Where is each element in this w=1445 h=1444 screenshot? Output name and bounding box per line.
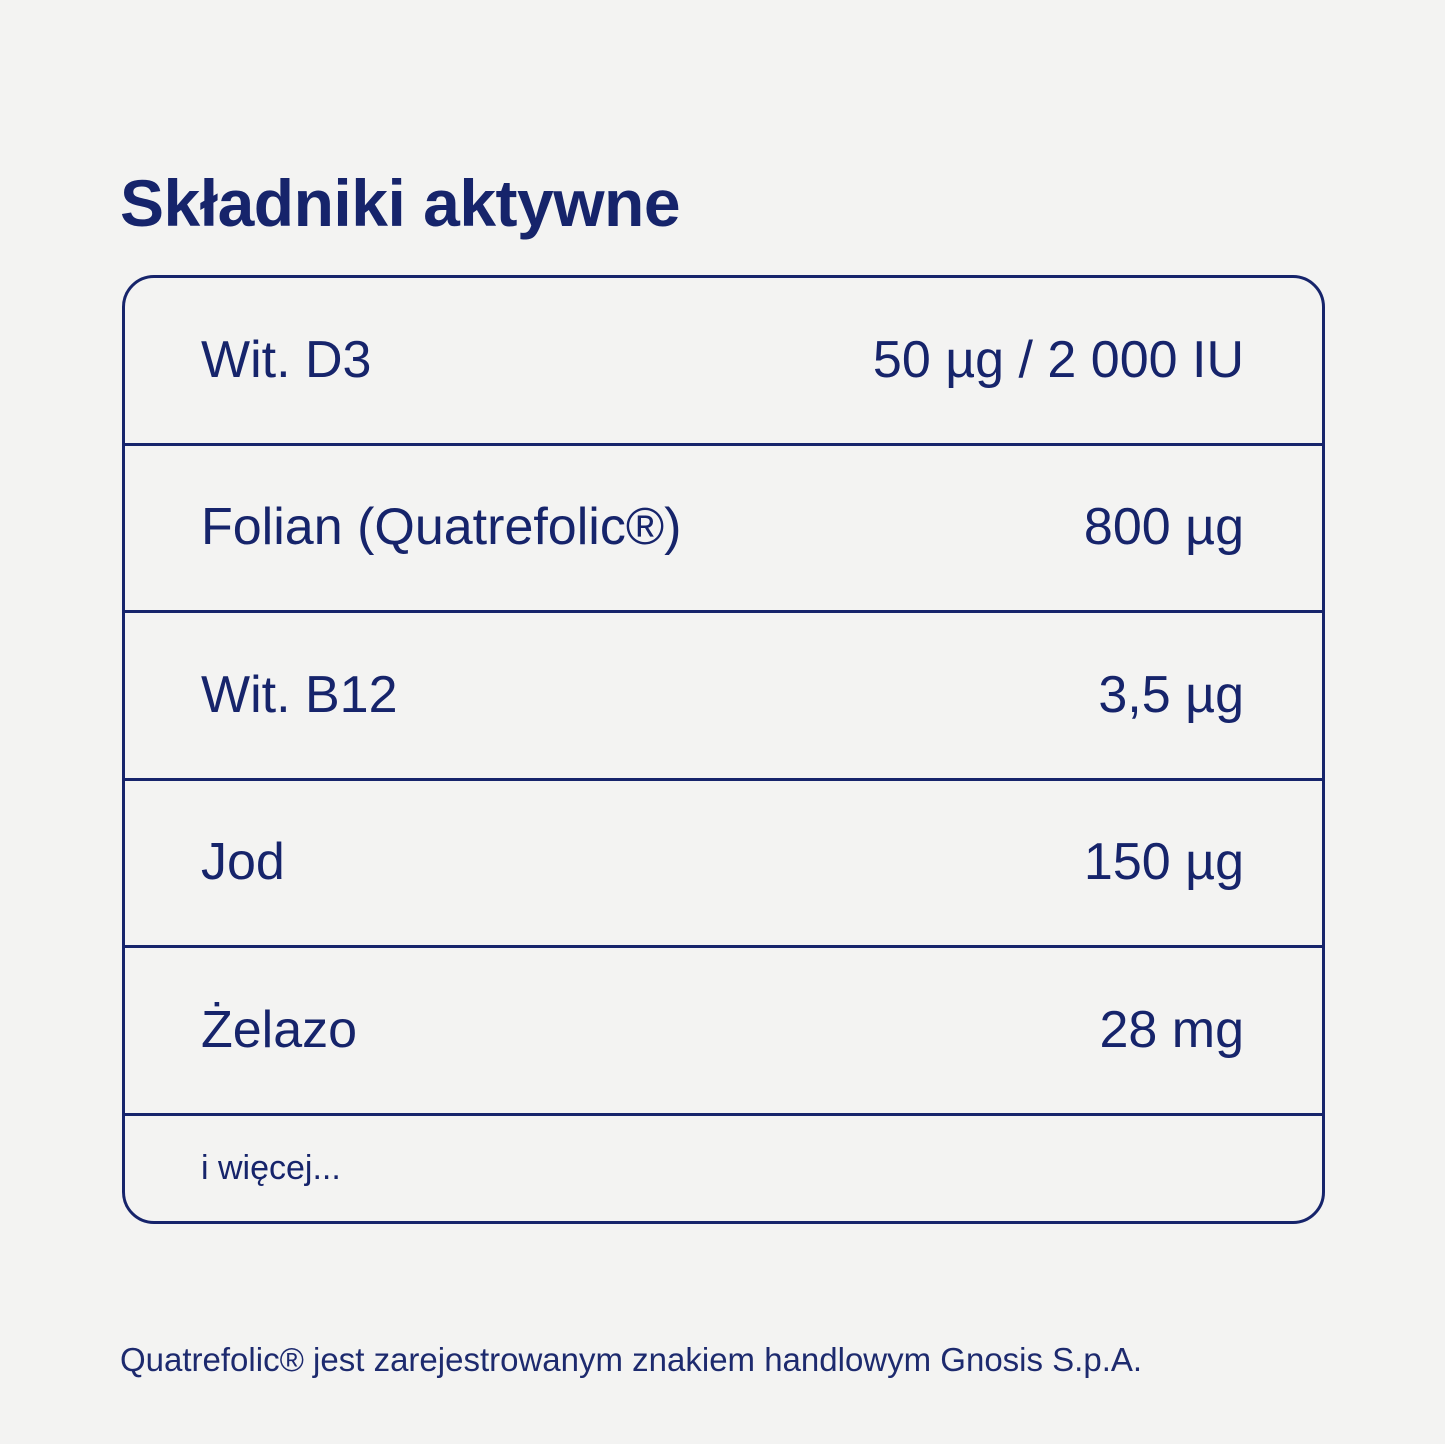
- ingredient-name: Wit. D3: [201, 332, 371, 389]
- ingredient-value: 3,5 µg: [1098, 667, 1244, 724]
- ingredients-card: Wit. D3 50 µg / 2 000 IU Folian (Quatref…: [122, 275, 1325, 1224]
- ingredients-panel: Składniki aktywne Wit. D3 50 µg / 2 000 …: [0, 0, 1445, 1444]
- ingredient-row: Wit. B12 3,5 µg: [125, 613, 1322, 781]
- ingredient-value: 50 µg / 2 000 IU: [873, 332, 1244, 389]
- trademark-note: Quatrefolic® jest zarejestrowanym znakie…: [120, 1340, 1142, 1380]
- page-title: Składniki aktywne: [120, 169, 680, 238]
- ingredient-name: Folian (Quatrefolic®): [201, 499, 681, 556]
- more-ingredients-label: i więcej...: [201, 1150, 341, 1187]
- ingredient-name: Jod: [201, 834, 285, 891]
- more-ingredients-row[interactable]: i więcej...: [125, 1116, 1322, 1221]
- ingredient-row: Jod 150 µg: [125, 781, 1322, 949]
- ingredient-value: 150 µg: [1084, 834, 1244, 891]
- ingredient-value: 800 µg: [1084, 499, 1244, 556]
- ingredient-row: Żelazo 28 mg: [125, 948, 1322, 1116]
- ingredients-list: Wit. D3 50 µg / 2 000 IU Folian (Quatref…: [125, 278, 1322, 1221]
- ingredient-row: Folian (Quatrefolic®) 800 µg: [125, 446, 1322, 614]
- ingredient-row: Wit. D3 50 µg / 2 000 IU: [125, 278, 1322, 446]
- ingredient-name: Żelazo: [201, 1002, 357, 1059]
- ingredient-value: 28 mg: [1099, 1002, 1244, 1059]
- ingredient-name: Wit. B12: [201, 667, 398, 724]
